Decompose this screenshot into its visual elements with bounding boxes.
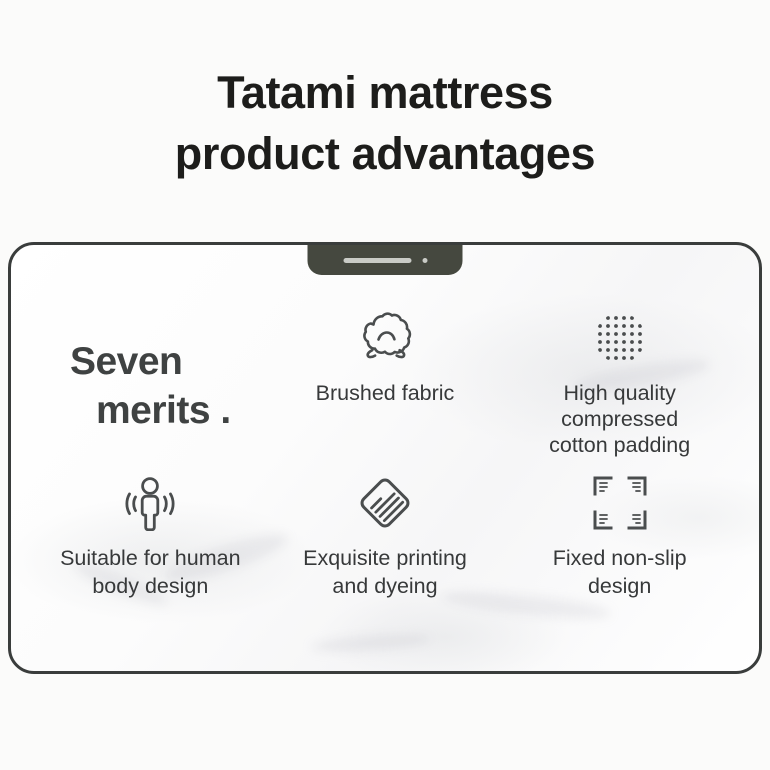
label-line-1: High quality <box>549 380 690 406</box>
label-line-1: Fixed non-slip <box>553 545 687 573</box>
label-line-1: Brushed fabric <box>316 380 455 408</box>
front-camera-dot <box>422 258 427 263</box>
label-line-2: design <box>553 573 687 601</box>
person-vibration-icon <box>119 470 181 536</box>
label-line-1: Exquisite printing <box>303 545 467 573</box>
feature-human-body-design: Suitable for human body design <box>33 466 268 641</box>
label-line-2: body design <box>60 573 240 601</box>
feature-label-non-slip-design: Fixed non-slip design <box>553 545 687 601</box>
seven-merits-line-1: Seven <box>70 338 231 387</box>
features-grid: Seven merits . Brushed fabric <box>11 245 759 671</box>
page-title-line-2: product advantages <box>0 123 770 184</box>
feature-non-slip-design: Fixed non-slip design <box>502 466 737 641</box>
feature-printing-dyeing: Exquisite printing and dyeing <box>268 466 503 641</box>
seven-merits-line-2: merits . <box>70 387 231 436</box>
feature-label-human-body-design: Suitable for human body design <box>60 545 240 601</box>
feature-cotton-padding: High quality compressed cotton padding <box>502 291 737 466</box>
dot-grid-circle-icon <box>591 305 649 371</box>
label-line-3: cotton padding <box>549 432 690 458</box>
feature-label-printing-dyeing: Exquisite printing and dyeing <box>303 545 467 601</box>
feature-label-brushed-fabric: Brushed fabric <box>316 380 455 408</box>
device-notch <box>308 242 463 275</box>
cloud-fabric-icon <box>356 305 414 371</box>
product-feature-panel: Seven merits . Brushed fabric <box>8 242 762 674</box>
feature-label-cotton-padding: High quality compressed cotton padding <box>549 380 690 459</box>
page-title: Tatami mattress product advantages <box>0 62 770 184</box>
corner-brackets-icon <box>591 470 649 536</box>
label-line-2: and dyeing <box>303 573 467 601</box>
seven-merits-headline: Seven merits . <box>70 338 231 436</box>
label-line-1: Suitable for human <box>60 545 240 573</box>
label-line-2: compressed <box>549 406 690 432</box>
diamond-stripes-icon <box>355 470 415 536</box>
feature-seven-merits: Seven merits . <box>33 291 268 466</box>
page-title-line-1: Tatami mattress <box>0 62 770 123</box>
feature-brushed-fabric: Brushed fabric <box>268 291 503 466</box>
speaker-slot <box>343 258 411 263</box>
